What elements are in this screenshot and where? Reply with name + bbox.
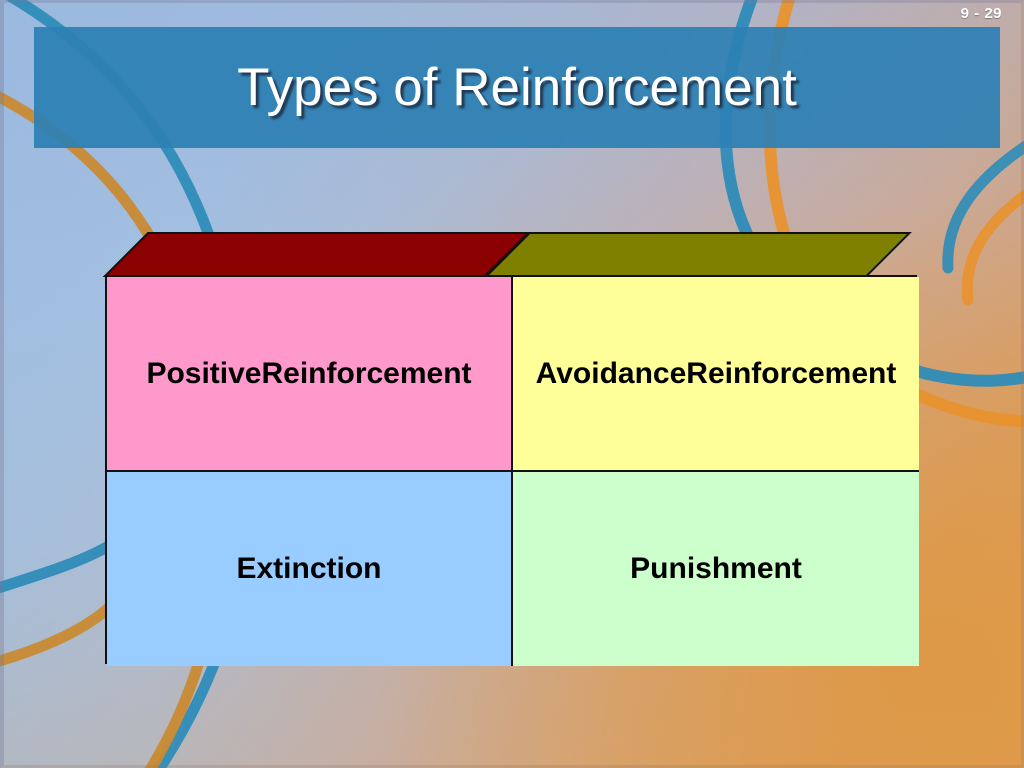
matrix-cell-punishment[interactable]: Punishment [513, 472, 919, 666]
matrix-cell-label-punishment: Punishment [630, 547, 802, 591]
types-of-reinforcement-matrix: Positive Reinforcement Avoidance Reinfor… [105, 232, 917, 664]
matrix-grid: Positive Reinforcement Avoidance Reinfor… [105, 275, 917, 664]
matrix-cell-label-avoidance-line1: Avoidance [536, 352, 687, 396]
matrix-cell-label-extinction: Extinction [236, 547, 381, 591]
bevel-avoidance-reinforcement [487, 233, 910, 276]
page-number: 9 - 29 [961, 5, 1002, 22]
matrix-cell-avoidance-reinforcement[interactable]: Avoidance Reinforcement [513, 277, 919, 472]
matrix-cell-label-avoidance-line2: Reinforcement [686, 352, 896, 396]
matrix-cell-label-positive-line2: Reinforcement [262, 352, 472, 396]
matrix-cell-positive-reinforcement[interactable]: Positive Reinforcement [107, 277, 513, 472]
matrix-cell-label-positive-line1: Positive [146, 352, 261, 396]
bevel-positive-reinforcement [105, 233, 528, 276]
matrix-cell-extinction[interactable]: Extinction [107, 472, 513, 666]
matrix-3d-bevel [105, 232, 917, 277]
slide-canvas: 9 - 29 Types of Reinforcement Positive R… [0, 0, 1024, 768]
page-title: Types of Reinforcement [34, 27, 1000, 148]
